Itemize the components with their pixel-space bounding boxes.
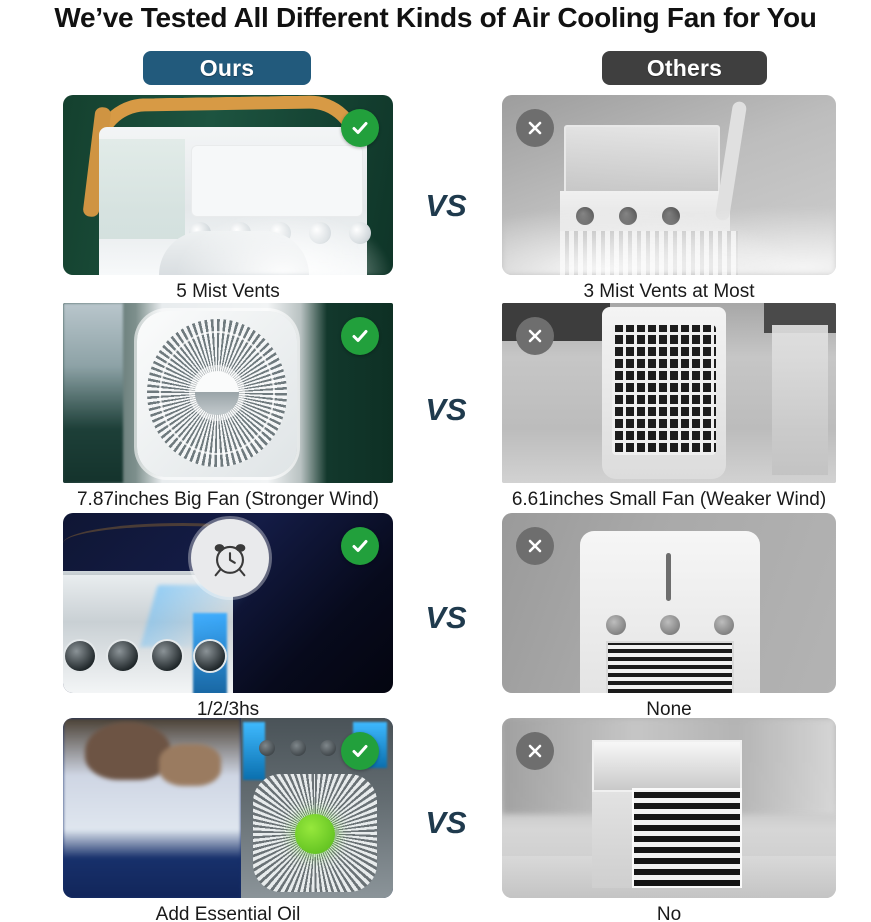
vs-label: VS [411, 805, 481, 841]
others-image [502, 303, 836, 483]
vs-label: VS [411, 392, 481, 428]
screw [660, 615, 680, 635]
fan-hub [195, 371, 239, 415]
fan-grille [632, 788, 742, 888]
light-beam [140, 585, 266, 647]
x-circle-icon [516, 732, 554, 770]
person-head [85, 722, 171, 780]
ours-caption: 7.87inches Big Fan (Stronger Wind) [63, 489, 393, 511]
screw [714, 615, 734, 635]
others-image [502, 95, 836, 275]
page-title: We’ve Tested All Different Kinds of Air … [0, 2, 871, 34]
control-button [320, 740, 336, 756]
control-button [259, 740, 275, 756]
ours-image [63, 303, 393, 483]
ours-cell: 7.87inches Big Fan (Stronger Wind) [63, 303, 393, 511]
vent-knob [195, 641, 225, 671]
check-circle-icon [341, 527, 379, 565]
vent-knob [152, 641, 182, 671]
others-caption: 6.61inches Small Fan (Weaker Wind) [502, 489, 836, 511]
alarm-clock-icon [207, 535, 253, 581]
green-glow-hub [295, 814, 335, 854]
person-arm [159, 744, 221, 786]
vent-knob [108, 641, 138, 671]
vs-label: VS [411, 188, 481, 224]
control-button [290, 740, 306, 756]
column-header-ours: Ours [143, 51, 311, 85]
column-header-ours-label: Ours [200, 55, 254, 82]
vent-knob-group [65, 641, 225, 675]
background-photo [63, 303, 123, 483]
ours-image [63, 513, 393, 693]
check-circle-icon [341, 109, 379, 147]
background-object [772, 325, 828, 475]
column-header-others-label: Others [647, 55, 722, 82]
x-circle-icon [516, 317, 554, 355]
column-header-others: Others [602, 51, 767, 85]
ours-cell: 1/2/3hs [63, 513, 393, 721]
others-cell: 3 Mist Vents at Most [502, 95, 836, 303]
others-cell: None [502, 513, 836, 721]
others-image [502, 718, 836, 898]
check-circle-icon [341, 732, 379, 770]
mist-spray [502, 195, 836, 275]
vs-label: VS [411, 600, 481, 636]
fan-grille [612, 325, 716, 455]
screw [606, 615, 626, 635]
timer-callout [191, 519, 269, 597]
water-tank [592, 740, 742, 792]
comparison-infographic: We’ve Tested All Different Kinds of Air … [0, 0, 871, 922]
water-tank [564, 125, 720, 195]
ours-cell: Add Essential Oil [63, 718, 393, 922]
mist-spray [173, 209, 393, 275]
others-caption: 3 Mist Vents at Most [502, 281, 836, 303]
x-circle-icon [516, 527, 554, 565]
ours-cell: 5 Mist Vents [63, 95, 393, 303]
others-cell: 6.61inches Small Fan (Weaker Wind) [502, 303, 836, 511]
ours-image [63, 718, 393, 898]
control-panel [191, 145, 363, 217]
check-circle-icon [341, 317, 379, 355]
ours-caption: 5 Mist Vents [63, 281, 393, 303]
x-circle-icon [516, 109, 554, 147]
ours-caption: Add Essential Oil [63, 904, 393, 922]
others-cell: No [502, 718, 836, 922]
rear-vent [606, 641, 734, 693]
screw-group [606, 615, 734, 635]
ours-image [63, 95, 393, 275]
others-caption: No [502, 904, 836, 922]
vent-knob [65, 641, 95, 671]
panel-slot [666, 553, 671, 601]
others-image [502, 513, 836, 693]
